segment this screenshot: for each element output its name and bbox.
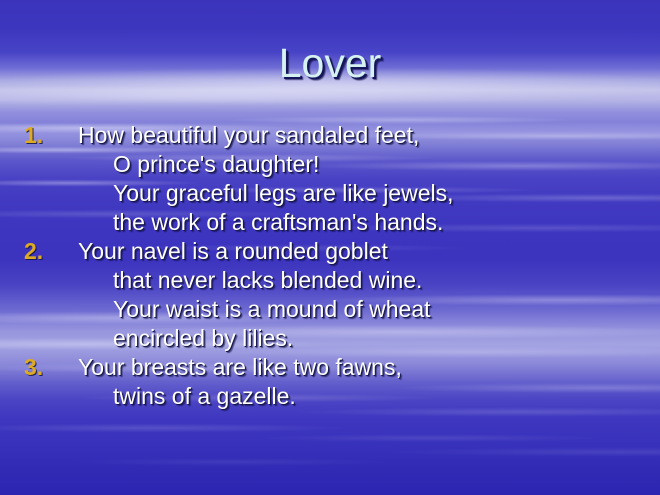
list-item: 2. Your navel is a rounded goblet that n…: [0, 237, 660, 353]
list-item-lines: Your navel is a rounded goblet that neve…: [0, 237, 660, 353]
presentation-slide: Lover 1. How beautiful your sandaled fee…: [0, 0, 660, 495]
list-item-lines: Your breasts are like two fawns, twins o…: [0, 353, 660, 411]
poem-line: Your waist is a mound of wheat: [0, 295, 660, 324]
poem-line: the work of a craftsman's hands.: [0, 208, 660, 237]
poem-line: encircled by lilies.: [0, 324, 660, 353]
poem-line: Your navel is a rounded goblet: [0, 237, 660, 266]
list-item-number: 2.: [24, 237, 64, 266]
slide-body-list: 1. How beautiful your sandaled feet, O p…: [0, 121, 660, 411]
poem-line: Your graceful legs are like jewels,: [0, 179, 660, 208]
list-item: 1. How beautiful your sandaled feet, O p…: [0, 121, 660, 237]
poem-line: How beautiful your sandaled feet,: [0, 121, 660, 150]
poem-line: O prince's daughter!: [0, 150, 660, 179]
list-item-number: 3.: [24, 353, 64, 382]
list-item-lines: How beautiful your sandaled feet, O prin…: [0, 121, 660, 237]
poem-line: twins of a gazelle.: [0, 382, 660, 411]
poem-line: Your breasts are like two fawns,: [0, 353, 660, 382]
slide-title: Lover: [0, 39, 660, 87]
list-item: 3. Your breasts are like two fawns, twin…: [0, 353, 660, 411]
list-item-number: 1.: [24, 121, 64, 150]
poem-line: that never lacks blended wine.: [0, 266, 660, 295]
